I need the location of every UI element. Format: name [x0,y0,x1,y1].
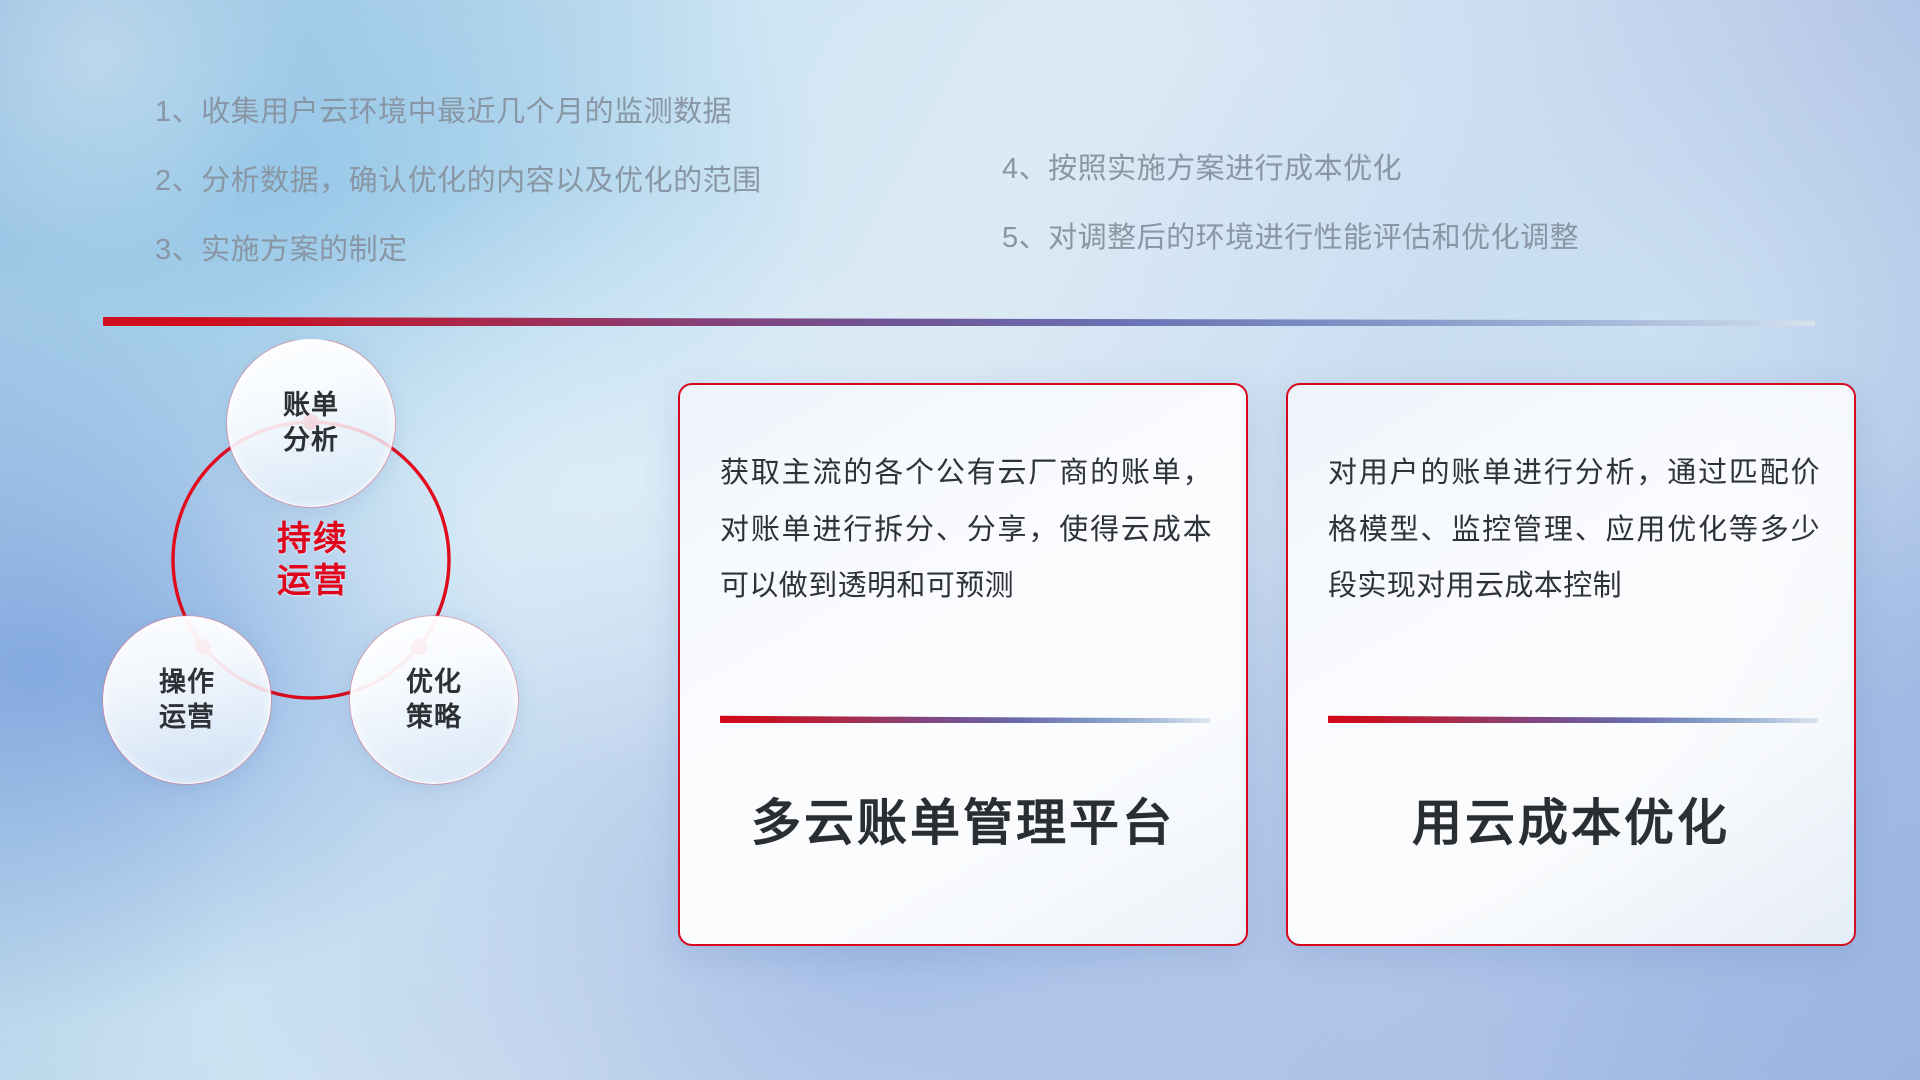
steps-right-column: 4、按照实施方案进行成本优化 5、对调整后的环境进行性能评估和优化调整 [1002,155,1579,293]
step-item-3: 3、实施方案的制定 [155,236,762,265]
card-cloud-cost-optimization[interactable]: 对用户的账单进行分析，通过匹配价格模型、监控管理、应用优化等多少段实现对用云成本… [1286,383,1856,946]
card-right-body: 对用户的账单进行分析，通过匹配价格模型、监控管理、应用优化等多少段实现对用云成本… [1328,445,1820,615]
step-item-2: 2、分析数据，确认优化的内容以及优化的范围 [155,167,762,196]
venn-bubble-bill-analysis[interactable]: 账单 分析 [227,339,395,507]
step-item-4: 4、按照实施方案进行成本优化 [1002,155,1579,184]
venn-center-label: 持续 运营 [277,518,349,603]
venn-bubble-left-line1: 操作 [159,665,215,700]
card-left-divider-wedge [720,715,1210,723]
card-multi-cloud-billing-platform[interactable]: 获取主流的各个公有云厂商的账单，对账单进行拆分、分享，使得云成本可以做到透明和可… [678,383,1248,946]
card-left-divider [720,715,1210,723]
venn-bubble-right-line1: 优化 [406,665,462,700]
venn-bubble-operations[interactable]: 操作 运营 [103,616,271,784]
venn-bubble-left-label: 操作 运营 [159,665,215,734]
venn-bubble-top-label: 账单 分析 [283,388,339,457]
card-left-body: 获取主流的各个公有云厂商的账单，对账单进行拆分、分享，使得云成本可以做到透明和可… [720,445,1212,615]
card-right-title: 用云成本优化 [1288,783,1854,855]
steps-left-column: 1、收集用户云环境中最近几个月的监测数据 2、分析数据，确认优化的内容以及优化的… [155,98,762,305]
venn-center-line1: 持续 [277,518,349,561]
venn-bubble-left-line2: 运营 [159,700,215,735]
venn-bubble-optimization-strategy[interactable]: 优化 策略 [350,616,518,784]
venn-bubble-right-label: 优化 策略 [406,665,462,734]
steps-list: 1、收集用户云环境中最近几个月的监测数据 2、分析数据，确认优化的内容以及优化的… [0,0,1920,300]
card-right-divider [1328,715,1818,723]
venn-bubble-top-line2: 分析 [283,423,339,458]
venn-bubble-right-line2: 策略 [406,700,462,735]
venn-center-line2: 运营 [277,560,349,603]
venn-center: 持续 运营 [233,490,393,630]
step-item-1: 1、收集用户云环境中最近几个月的监测数据 [155,98,762,127]
step-item-5: 5、对调整后的环境进行性能评估和优化调整 [1002,224,1579,253]
section-divider-wedge [103,317,1815,326]
venn-bubble-top-line1: 账单 [283,388,339,423]
section-divider [103,317,1815,326]
card-left-title: 多云账单管理平台 [680,783,1246,855]
venn-diagram: 账单 分析 操作 运营 优化 策略 持续 运营 [100,340,570,960]
card-right-divider-wedge [1328,715,1818,723]
